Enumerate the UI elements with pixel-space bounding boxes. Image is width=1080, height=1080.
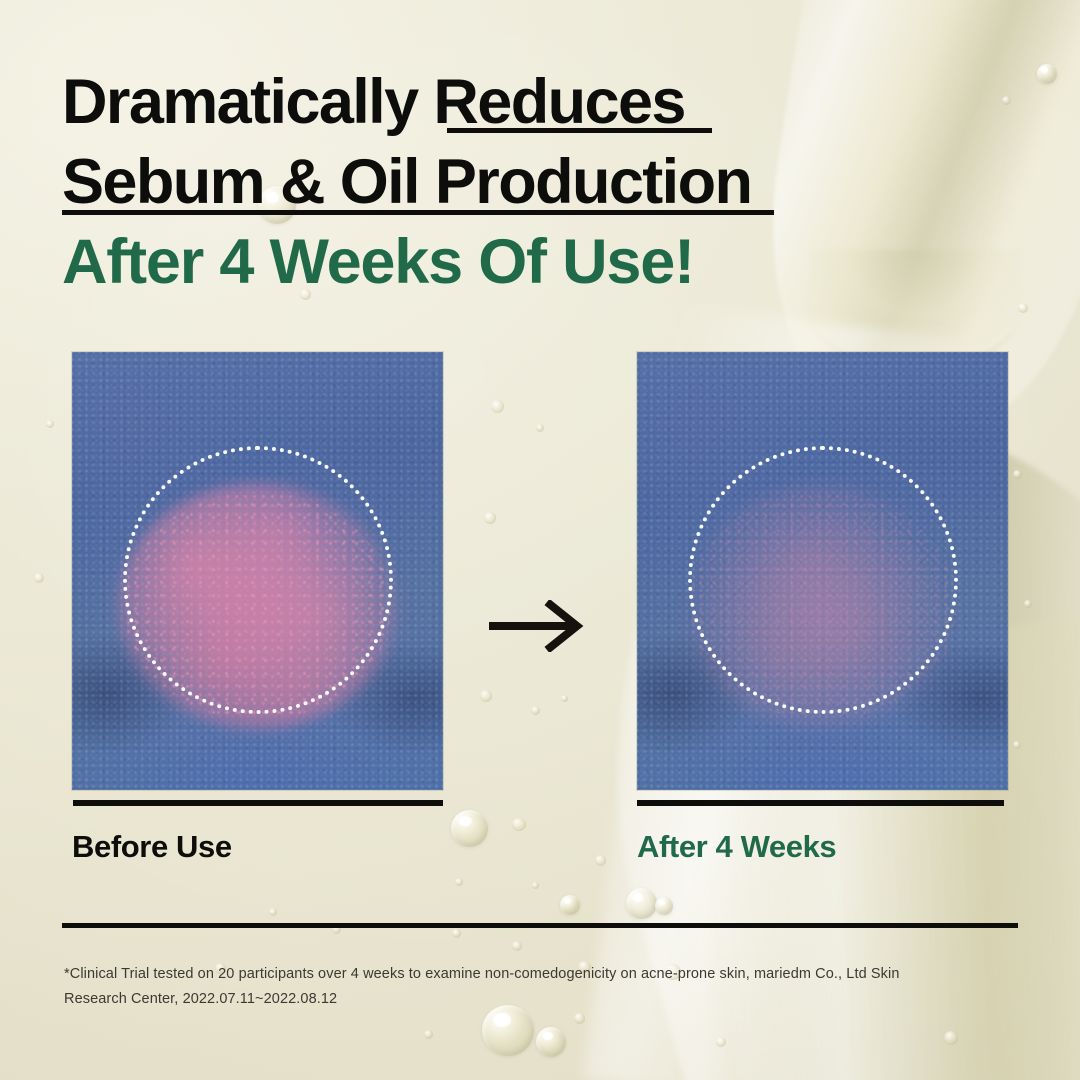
promo-canvas: Dramatically Reduces Sebum & Oil Product… [0,0,1080,1080]
right-arrow-icon [487,600,587,652]
bottom-divider [62,923,1018,928]
clinical-trial-footnote: *Clinical Trial tested on 20 participant… [64,962,964,1012]
measurement-circle-icon [123,446,393,714]
before-caption-label: Before Use [72,829,232,865]
measurement-circle-icon [688,446,958,714]
before-image-panel [72,352,443,790]
after-caption-rule [637,800,1004,806]
after-caption-label: After 4 Weeks [637,829,836,865]
after-image-panel [637,352,1008,790]
comparison-section: Before Use After 4 Weeks [0,0,1080,1080]
before-caption-rule [73,800,443,806]
